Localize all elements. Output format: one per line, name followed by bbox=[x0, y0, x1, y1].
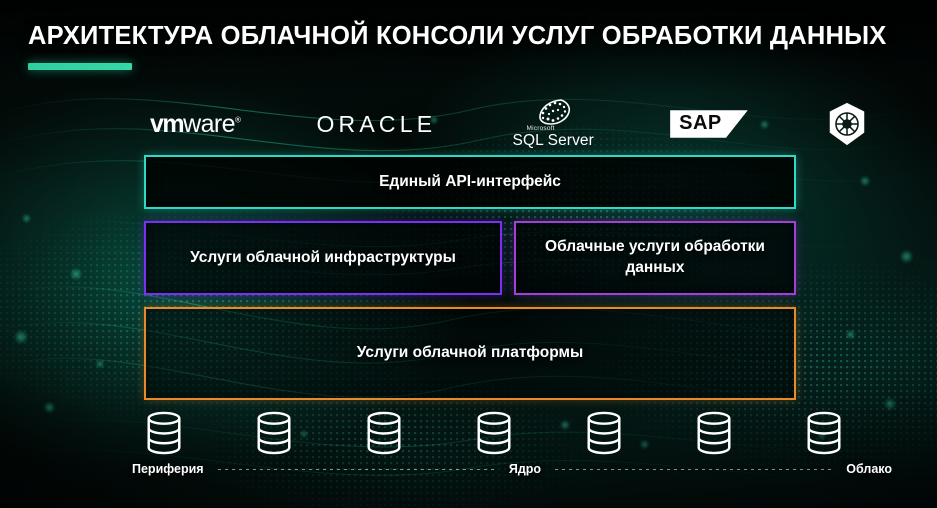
layer-api-label: Единый API-интерфейс bbox=[379, 172, 561, 193]
slide-canvas: АРХИТЕКТУРА ОБЛАЧНОЙ КОНСОЛИ УСЛУГ ОБРАБ… bbox=[0, 0, 937, 508]
oracle-logo-text: ORACLE bbox=[316, 111, 436, 138]
sql-server-logo-text: SQL Server bbox=[513, 133, 594, 149]
database-cylinder-icon bbox=[694, 411, 734, 455]
layer-cloud-platform-label: Услуги облачной платформы bbox=[357, 343, 583, 364]
page-title: АРХИТЕКТУРА ОБЛАЧНОЙ КОНСОЛИ УСЛУГ ОБРАБ… bbox=[28, 22, 886, 51]
sql-server-swoosh-icon bbox=[531, 99, 575, 125]
database-cylinder-icon bbox=[254, 411, 294, 455]
layer-cloud-infrastructure[interactable]: Услуги облачной инфраструктуры bbox=[144, 221, 502, 295]
oracle-logo: ORACLE bbox=[316, 98, 436, 150]
scale-connector-left bbox=[218, 469, 495, 470]
vmware-trademark: ® bbox=[235, 115, 240, 124]
vendor-logo-row: vmware® ORACLE bbox=[150, 96, 870, 152]
scale-label-core: Ядро bbox=[509, 462, 541, 476]
layer-api[interactable]: Единый API-интерфейс bbox=[144, 155, 796, 209]
database-cylinder-icon bbox=[474, 411, 514, 455]
vmware-logo: vmware® bbox=[150, 98, 240, 150]
architecture-stack: Единый API-интерфейс Услуги облачной инф… bbox=[144, 155, 796, 400]
scale-label-edge: Периферия bbox=[132, 462, 204, 476]
database-node-row bbox=[144, 410, 844, 455]
database-cylinder-icon bbox=[144, 411, 184, 455]
database-cylinder-icon bbox=[804, 411, 844, 455]
sap-logo-text: SAP bbox=[670, 110, 748, 138]
layer-cloud-data-services[interactable]: Облачные услуги обработки данных bbox=[514, 221, 796, 295]
layer-cloud-data-services-label: Облачные услуги обработки данных bbox=[520, 237, 790, 279]
kubernetes-helm-icon bbox=[824, 101, 870, 147]
database-cylinder-icon bbox=[584, 411, 624, 455]
scale-label-cloud: Облако bbox=[846, 462, 892, 476]
title-accent-bar bbox=[28, 63, 132, 70]
vmware-logo-mark: vm bbox=[150, 110, 183, 138]
kubernetes-logo bbox=[824, 98, 870, 150]
architecture-middle-row: Услуги облачной инфраструктуры Облачные … bbox=[144, 221, 796, 295]
scale-label-row: Периферия Ядро Облако bbox=[132, 458, 892, 480]
layer-cloud-platform[interactable]: Услуги облачной платформы bbox=[144, 307, 796, 400]
sap-logo: SAP bbox=[670, 98, 748, 150]
layer-cloud-infrastructure-label: Услуги облачной инфраструктуры bbox=[190, 248, 456, 269]
scale-connector-right bbox=[555, 469, 832, 470]
header: АРХИТЕКТУРА ОБЛАЧНОЙ КОНСОЛИ УСЛУГ ОБРАБ… bbox=[28, 22, 886, 70]
sql-server-logo: Microsoft SQL Server bbox=[513, 98, 594, 150]
database-cylinder-icon bbox=[364, 411, 404, 455]
vmware-logo-text: ware bbox=[183, 110, 235, 138]
